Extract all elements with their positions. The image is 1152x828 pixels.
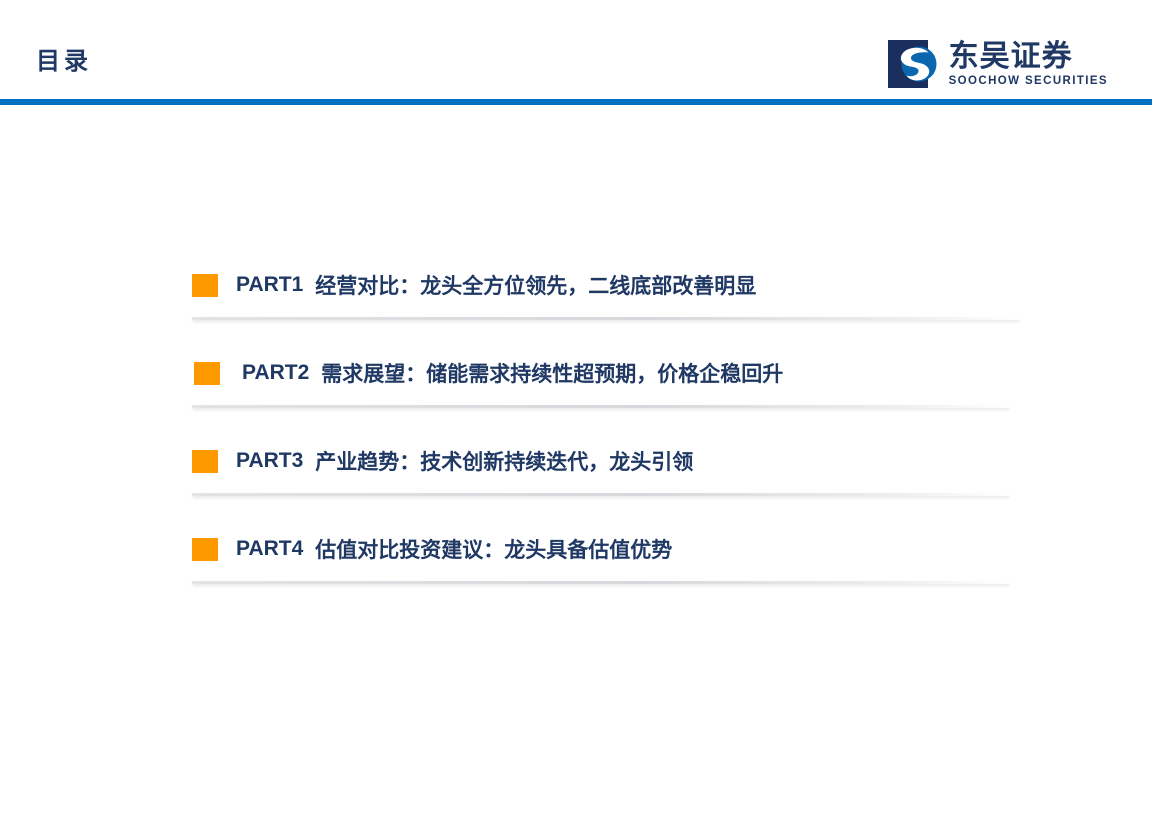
toc-row[interactable]: PART4 估值对比投资建议：龙头具备估值优势 (192, 526, 1032, 572)
table-of-contents: PART1 经营对比：龙头全方位领先，二线底部改善明显 PART2 需求展望：储… (192, 262, 1032, 614)
header-divider-rule (0, 99, 1152, 105)
logo-english-name: SOOCHOW SECURITIES (949, 75, 1108, 89)
logo-chinese-name: 东吴证券 (949, 41, 1108, 73)
toc-row[interactable]: PART1 经营对比：龙头全方位领先，二线底部改善明显 (192, 262, 1032, 308)
soochow-securities-logo-mark-icon (888, 40, 940, 88)
toc-item-title: 估值对比投资建议：龙头具备估值优势 (315, 534, 672, 564)
square-bullet-icon (192, 538, 218, 561)
square-bullet-icon (192, 450, 218, 473)
logo-wordmark: 东吴证券 SOOCHOW SECURITIES (949, 40, 1108, 88)
page-title: 目录 (36, 50, 92, 74)
toc-divider (192, 581, 1010, 584)
toc-part-label: PART1 (236, 273, 303, 297)
brand-logo: 东吴证券 SOOCHOW SECURITIES (888, 40, 1108, 88)
toc-divider (192, 405, 1010, 408)
square-bullet-icon (194, 362, 220, 385)
toc-item-title: 经营对比：龙头全方位领先，二线底部改善明显 (315, 270, 756, 300)
toc-item-part4[interactable]: PART4 估值对比投资建议：龙头具备估值优势 (192, 526, 1032, 614)
toc-item-title: 产业趋势：技术创新持续迭代，龙头引领 (315, 446, 693, 476)
toc-item-title: 需求展望：储能需求持续性超预期，价格企稳回升 (321, 358, 783, 388)
toc-item-part1[interactable]: PART1 经营对比：龙头全方位领先，二线底部改善明显 (192, 262, 1032, 350)
toc-item-part3[interactable]: PART3 产业趋势：技术创新持续迭代，龙头引领 (192, 438, 1032, 526)
slide-header: 目录 东吴证券 SOOCHOW SECURITIES (0, 0, 1152, 104)
toc-part-label: PART3 (236, 449, 303, 473)
toc-row[interactable]: PART2 需求展望：储能需求持续性超预期，价格企稳回升 (192, 350, 1032, 396)
toc-part-label: PART4 (236, 537, 303, 561)
toc-item-part2[interactable]: PART2 需求展望：储能需求持续性超预期，价格企稳回升 (192, 350, 1032, 438)
toc-part-label: PART2 (238, 361, 309, 385)
square-bullet-icon (192, 274, 218, 297)
toc-row[interactable]: PART3 产业趋势：技术创新持续迭代，龙头引领 (192, 438, 1032, 484)
toc-divider (192, 493, 1010, 496)
toc-divider (192, 317, 1020, 320)
